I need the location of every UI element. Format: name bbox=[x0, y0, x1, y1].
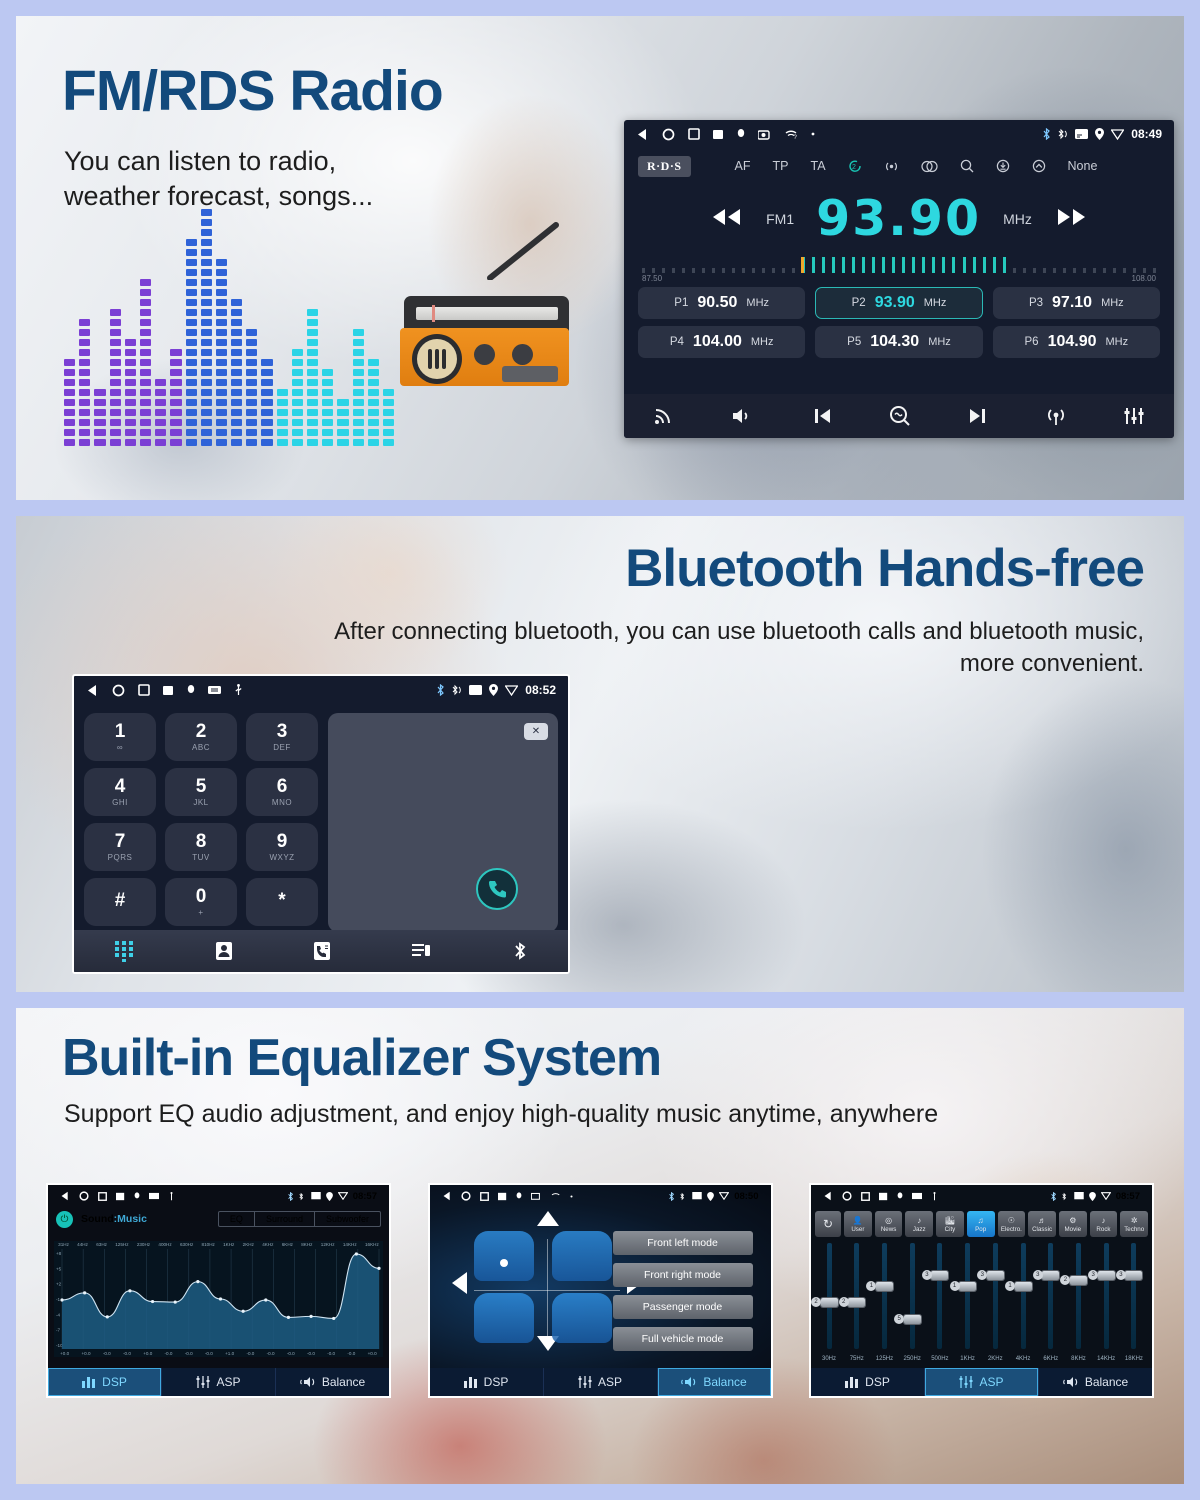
dial-tick bbox=[682, 268, 685, 273]
cast-icon bbox=[311, 1192, 321, 1200]
svg-text:2: 2 bbox=[852, 164, 856, 171]
dial-tick bbox=[1113, 268, 1116, 273]
location-icon bbox=[326, 1192, 333, 1201]
mic-icon[interactable] bbox=[516, 1192, 522, 1201]
gain-tick-label: -0.0 bbox=[287, 1351, 295, 1356]
back-icon[interactable] bbox=[442, 1191, 452, 1201]
eq-bar-column bbox=[125, 339, 136, 446]
bluetooth-icon bbox=[436, 684, 445, 696]
slider-thumb[interactable] bbox=[1098, 1271, 1115, 1280]
stereo-icon[interactable] bbox=[921, 160, 938, 173]
dsp-gain-labels: +0.0+0.0-0.0-0.0+0.0-0.0-0.0-0.0+1.0-0.0… bbox=[54, 1351, 383, 1356]
radio-signal-icon[interactable] bbox=[652, 405, 674, 427]
status-bar: 08:57 bbox=[811, 1185, 1152, 1207]
seek-backward-icon[interactable] bbox=[710, 203, 744, 234]
asp-preset-button[interactable]: ♬Classic bbox=[1028, 1211, 1056, 1237]
dsp-curve-point bbox=[174, 1300, 177, 1303]
dialpad-key[interactable]: * bbox=[246, 878, 318, 926]
dial-tick bbox=[822, 257, 825, 273]
camera-icon[interactable] bbox=[758, 129, 772, 140]
band-frequency-label: 75Hz bbox=[850, 1356, 864, 1362]
dialpad-key[interactable]: 7PQRS bbox=[84, 823, 156, 871]
head-unit-radio-screen: ? 08:49 R·D·S AF TP TA 2 bbox=[624, 120, 1174, 438]
mic-icon[interactable] bbox=[897, 1192, 903, 1201]
frequency-unit: MHz bbox=[1003, 211, 1032, 227]
balance-mode-button[interactable]: Front right mode bbox=[613, 1263, 753, 1287]
dsp-curve-area bbox=[62, 1254, 379, 1349]
slider-value-bubble: 2 bbox=[811, 1297, 821, 1307]
eq-bar-column bbox=[337, 399, 348, 446]
equalizer-settings-icon[interactable] bbox=[1123, 406, 1145, 426]
mic-icon[interactable] bbox=[737, 129, 745, 140]
dot-icon bbox=[570, 1195, 573, 1198]
asp-preset-button[interactable]: ◎News bbox=[875, 1211, 903, 1237]
preset-button[interactable]: P5104.30MHz bbox=[815, 326, 982, 358]
status-time: 08:50 bbox=[734, 1191, 758, 1202]
slider-thumb[interactable] bbox=[1042, 1271, 1059, 1280]
keypad-tab-icon[interactable] bbox=[114, 940, 134, 962]
dsp-curve-point bbox=[309, 1315, 312, 1318]
asp-band-slider[interactable]: 314KHz bbox=[1094, 1243, 1118, 1362]
slider-value-bubble: 3 bbox=[977, 1270, 987, 1280]
call-button[interactable] bbox=[476, 868, 518, 910]
dial-tick bbox=[1013, 268, 1016, 273]
call-log-tab-icon[interactable] bbox=[313, 941, 331, 961]
asp-slider-bank: 230Hz275Hz1125Hz5250Hz3500Hz11KHz32KHz14… bbox=[817, 1243, 1146, 1362]
sound-header: ⏻ Sound:Music EQ Surround Subwoofer bbox=[48, 1207, 389, 1231]
slider-thumb[interactable] bbox=[959, 1282, 976, 1291]
dsp-curve-point bbox=[60, 1298, 63, 1301]
dial-tick bbox=[1133, 268, 1136, 273]
slider-value-bubble: 1 bbox=[1005, 1281, 1015, 1291]
dialpad-key[interactable]: 4GHI bbox=[84, 768, 156, 816]
current-frequency: 93.90 bbox=[816, 190, 981, 247]
page-title-bluetooth: Bluetooth Hands-free bbox=[625, 538, 1144, 599]
gain-tick-label: +1.0 bbox=[225, 1351, 234, 1356]
eq-bar-column bbox=[186, 239, 197, 446]
preset-button[interactable]: P190.50MHz bbox=[638, 287, 805, 319]
asp-band-slider[interactable]: 28KHz bbox=[1066, 1243, 1090, 1362]
dial-tick bbox=[1103, 268, 1106, 273]
home-icon[interactable] bbox=[842, 1191, 852, 1201]
band-frequency-label: 14KHz bbox=[1097, 1356, 1115, 1362]
rds-station-name: None bbox=[1068, 159, 1098, 173]
dialpad-key[interactable]: 5JKL bbox=[165, 768, 237, 816]
sync-contacts-tab-icon[interactable] bbox=[411, 942, 431, 960]
search-icon[interactable] bbox=[960, 159, 974, 173]
recents-icon[interactable] bbox=[688, 128, 700, 140]
dial-tick bbox=[842, 257, 845, 273]
dsp-curve-point bbox=[242, 1310, 245, 1313]
eq-bar-column bbox=[246, 329, 257, 446]
eq-bar-column bbox=[322, 369, 333, 446]
scan-icon[interactable] bbox=[889, 405, 911, 427]
slider-thumb[interactable] bbox=[987, 1271, 1004, 1280]
gain-tick-label: -0.0 bbox=[103, 1351, 111, 1356]
dial-tick bbox=[1143, 268, 1146, 273]
dial-tick bbox=[872, 257, 875, 273]
status-time: 08:49 bbox=[1131, 127, 1162, 141]
rds-refresh-icon[interactable]: 2 bbox=[848, 159, 862, 173]
cast-icon bbox=[469, 685, 482, 696]
sd-card-icon[interactable] bbox=[912, 1192, 922, 1200]
usb-icon[interactable] bbox=[234, 684, 243, 696]
bottom-tab-asp[interactable]: ASP bbox=[162, 1368, 276, 1396]
location-icon bbox=[489, 684, 498, 696]
dial-min-label: 87.50 bbox=[642, 274, 662, 283]
tab-eq[interactable]: EQ bbox=[219, 1212, 254, 1226]
asp-preset-button[interactable]: ♪Jazz bbox=[905, 1211, 933, 1237]
dial-tick bbox=[832, 257, 835, 273]
bottom-tab-dsp[interactable]: DSP bbox=[48, 1368, 162, 1396]
dsp-curve-point bbox=[287, 1316, 290, 1319]
dial-tick bbox=[993, 257, 996, 273]
dsp-curve-point bbox=[264, 1298, 267, 1301]
band-frequency-label: 18KHz bbox=[1125, 1356, 1143, 1362]
gain-tick-label: -0.0 bbox=[205, 1351, 213, 1356]
dial-tick bbox=[952, 257, 955, 273]
dsp-bottom-tabs: DSP ASP Balance bbox=[48, 1368, 389, 1396]
dial-tick bbox=[1023, 268, 1026, 273]
previous-icon[interactable] bbox=[812, 406, 832, 426]
dial-tick bbox=[932, 257, 935, 273]
svg-text:?: ? bbox=[794, 135, 798, 140]
scan-up-icon[interactable] bbox=[1032, 159, 1046, 173]
recents-icon[interactable] bbox=[861, 1192, 870, 1201]
asp-preset-button[interactable]: 👤User bbox=[844, 1211, 872, 1237]
asp-band-slider[interactable]: 36KHz bbox=[1039, 1243, 1063, 1362]
dial-tick bbox=[782, 268, 785, 273]
dial-tick bbox=[963, 257, 966, 273]
dialpad-key[interactable]: 9WXYZ bbox=[246, 823, 318, 871]
preset-button[interactable]: P6104.90MHz bbox=[993, 326, 1160, 358]
slider-thumb[interactable] bbox=[1015, 1282, 1032, 1291]
dialpad: 1∞2ABC3DEF4GHI5JKL6MNO7PQRS8TUV9WXYZ#0+*… bbox=[74, 704, 568, 932]
dsp-eq-curve-chart[interactable]: 31Hz44Hz63Hz125Hz230Hz400Hz630Hz810Hz1KH… bbox=[54, 1241, 383, 1357]
balance-position-dot[interactable] bbox=[500, 1259, 508, 1267]
home-icon[interactable] bbox=[112, 684, 125, 697]
eq-bar-column bbox=[353, 329, 364, 446]
band-frequency-label: 2KHz bbox=[988, 1356, 1003, 1362]
dialpad-key[interactable]: # bbox=[84, 878, 156, 926]
seek-forward-icon[interactable] bbox=[1054, 203, 1088, 234]
eq-bar-column bbox=[383, 389, 394, 446]
dialpad-key[interactable]: 3DEF bbox=[246, 713, 318, 761]
signal-icon bbox=[1111, 129, 1124, 140]
seat-map[interactable] bbox=[472, 1231, 622, 1349]
balance-control[interactable]: Front left modeFront right modePassenger… bbox=[430, 1207, 771, 1368]
bottom-tab-dsp[interactable]: DSP bbox=[811, 1368, 925, 1396]
dial-tick bbox=[692, 268, 695, 273]
asp-band-slider[interactable]: 11KHz bbox=[956, 1243, 980, 1362]
home-icon[interactable] bbox=[79, 1191, 89, 1201]
bluetooth-icon bbox=[1042, 128, 1051, 140]
screenshot-icon[interactable] bbox=[879, 1192, 888, 1201]
bottom-tab-asp[interactable]: ASP bbox=[544, 1368, 658, 1396]
dial-tick bbox=[752, 268, 755, 273]
location-icon bbox=[707, 1192, 714, 1201]
asp-band-slider[interactable]: 3500Hz bbox=[928, 1243, 952, 1362]
dial-tick bbox=[732, 268, 735, 273]
dialpad-key[interactable]: 6MNO bbox=[246, 768, 318, 816]
band-frequency-label: 30Hz bbox=[822, 1356, 836, 1362]
svg-text:+2: +2 bbox=[56, 1282, 62, 1287]
eq-bar-column bbox=[368, 359, 379, 446]
head-unit-asp-screen: 08:57 ↻👤User◎News♪Jazz🏙City♫Pop☉Electro.… bbox=[809, 1183, 1154, 1398]
dial-tick bbox=[902, 257, 905, 273]
phone-bottom-toolbar bbox=[74, 930, 568, 972]
slider-thumb[interactable] bbox=[876, 1282, 893, 1291]
gain-tick-label: -0.0 bbox=[185, 1351, 193, 1356]
eq-bar-column bbox=[201, 209, 212, 446]
balance-mode-button[interactable]: Passenger mode bbox=[613, 1295, 753, 1319]
dial-cursor bbox=[801, 257, 804, 273]
dial-tick bbox=[792, 268, 795, 273]
slider-value-bubble: 2 bbox=[839, 1297, 849, 1307]
band-frequency-label: 125Hz bbox=[876, 1356, 893, 1362]
next-icon[interactable] bbox=[968, 406, 988, 426]
dot-icon bbox=[811, 132, 815, 136]
signal-icon bbox=[1101, 1192, 1111, 1200]
camera-icon[interactable] bbox=[531, 1192, 542, 1200]
eq-bar-column bbox=[170, 349, 181, 446]
wifi-icon[interactable] bbox=[551, 1192, 561, 1200]
dial-tick bbox=[862, 257, 865, 273]
slider-thumb[interactable] bbox=[1070, 1276, 1087, 1285]
head-unit-dialpad-screen: 08:52 1∞2ABC3DEF4GHI5JKL6MNO7PQRS8TUV9WX… bbox=[72, 674, 570, 974]
balance-mode-button[interactable]: Front left mode bbox=[613, 1231, 753, 1255]
back-icon[interactable] bbox=[636, 128, 649, 141]
band-frequency-label: 4KHz bbox=[1016, 1356, 1031, 1362]
bottom-tab-dsp[interactable]: DSP bbox=[430, 1368, 544, 1396]
asp-preset-button[interactable]: 🏙City bbox=[936, 1211, 964, 1237]
radio-subtitle: You can listen to radio,weather forecast… bbox=[64, 144, 373, 213]
gain-tick-label: +0.0 bbox=[81, 1351, 90, 1356]
page-title-equalizer: Built-in Equalizer System bbox=[62, 1028, 661, 1088]
dsp-curve-point bbox=[196, 1280, 199, 1283]
signal-icon bbox=[338, 1192, 348, 1200]
sd-card-icon[interactable] bbox=[149, 1192, 159, 1200]
asp-preset-button[interactable]: ✲Techno bbox=[1120, 1211, 1148, 1237]
rds-badge[interactable]: R·D·S bbox=[638, 156, 691, 177]
svg-text:-1: -1 bbox=[56, 1297, 61, 1302]
signal-icon bbox=[505, 685, 518, 696]
dial-tick bbox=[892, 257, 895, 273]
asp-preset-button[interactable]: ⚙Movie bbox=[1059, 1211, 1087, 1237]
asp-band-slider[interactable]: 32KHz bbox=[983, 1243, 1007, 1362]
asp-band-slider[interactable]: 5250Hz bbox=[900, 1243, 924, 1362]
preset-button[interactable]: P293.90MHz bbox=[815, 287, 982, 319]
dsp-curve-point bbox=[106, 1315, 109, 1318]
frequency-row: FM1 93.90 MHz bbox=[624, 190, 1174, 247]
asp-preset-button[interactable]: ♪Rock bbox=[1090, 1211, 1118, 1237]
dsp-curve-point bbox=[332, 1317, 335, 1320]
status-time: 08:57 bbox=[353, 1191, 377, 1202]
asp-preset-row: ↻👤User◎News♪Jazz🏙City♫Pop☉Electro.♬Class… bbox=[815, 1211, 1148, 1237]
bottom-tab-asp[interactable]: ASP bbox=[925, 1368, 1039, 1396]
dsp-curve-point bbox=[151, 1300, 154, 1303]
dial-tick bbox=[1003, 257, 1006, 273]
status-time: 08:57 bbox=[1116, 1191, 1140, 1202]
tab-surround[interactable]: Surround bbox=[254, 1212, 314, 1226]
slider-thumb[interactable] bbox=[1125, 1271, 1142, 1280]
screenshot-icon[interactable] bbox=[163, 685, 174, 696]
screenshot-icon[interactable] bbox=[116, 1192, 125, 1201]
screenshot-icon[interactable] bbox=[498, 1192, 507, 1201]
gain-tick-label: +0.0 bbox=[368, 1351, 377, 1356]
gain-tick-label: -0.0 bbox=[347, 1351, 355, 1356]
recents-icon[interactable] bbox=[138, 684, 150, 696]
asp-band-slider[interactable]: 14KHz bbox=[1011, 1243, 1035, 1362]
bluetooth-audio-icon bbox=[1058, 128, 1068, 140]
dial-tick bbox=[672, 268, 675, 273]
power-icon[interactable]: ⏻ bbox=[56, 1211, 73, 1228]
bottom-tab-balance[interactable]: Balance bbox=[276, 1368, 389, 1396]
balance-bottom-tabs: DSP ASP Balance bbox=[430, 1368, 771, 1396]
volume-icon[interactable] bbox=[731, 406, 755, 426]
wifi-icon[interactable]: ? bbox=[785, 129, 798, 140]
tab-subwoofer[interactable]: Subwoofer bbox=[314, 1212, 380, 1226]
rds-ta-button[interactable]: TA bbox=[810, 159, 825, 173]
section-bluetooth-handsfree: Bluetooth Hands-free After connecting bl… bbox=[16, 516, 1184, 992]
dial-tick bbox=[922, 257, 925, 273]
gain-tick-label: -0.0 bbox=[307, 1351, 315, 1356]
asp-band-slider[interactable]: 1125Hz bbox=[872, 1243, 896, 1362]
balance-left-arrow bbox=[452, 1271, 468, 1295]
dsp-curve-point bbox=[83, 1291, 86, 1294]
sd-card-icon[interactable] bbox=[208, 685, 221, 695]
number-display-field[interactable]: ✕ bbox=[328, 713, 558, 932]
gain-tick-label: -0.0 bbox=[165, 1351, 173, 1356]
location-icon bbox=[1089, 1192, 1096, 1201]
status-bar: ? 08:49 bbox=[624, 120, 1174, 148]
broadcast-icon[interactable] bbox=[884, 160, 899, 173]
asp-reset-button[interactable]: ↻ bbox=[815, 1211, 841, 1237]
dialpad-key[interactable]: 8TUV bbox=[165, 823, 237, 871]
band-frequency-label: 500Hz bbox=[931, 1356, 948, 1362]
band-frequency-label: 250Hz bbox=[903, 1356, 920, 1362]
svg-text:-7: -7 bbox=[56, 1328, 61, 1333]
backspace-icon[interactable]: ✕ bbox=[524, 723, 548, 740]
asp-band-slider[interactable]: 318KHz bbox=[1122, 1243, 1146, 1362]
slider-value-bubble: 3 bbox=[922, 1270, 932, 1280]
dial-tick bbox=[942, 257, 945, 273]
bottom-tab-balance[interactable]: Balance bbox=[1039, 1368, 1152, 1396]
asp-band-slider[interactable]: 230Hz bbox=[817, 1243, 841, 1362]
dial-tick bbox=[1153, 268, 1156, 273]
status-time: 08:52 bbox=[525, 683, 556, 697]
usb-icon[interactable] bbox=[168, 1192, 175, 1201]
dial-tick bbox=[1033, 268, 1036, 273]
slider-value-bubble: 2 bbox=[1060, 1275, 1070, 1285]
balance-up-arrow bbox=[536, 1211, 560, 1227]
dialpad-key[interactable]: 0+ bbox=[165, 878, 237, 926]
dial-max-label: 108.00 bbox=[1132, 274, 1156, 283]
back-icon[interactable] bbox=[60, 1191, 70, 1201]
dialpad-key[interactable]: 2ABC bbox=[165, 713, 237, 761]
asp-band-slider[interactable]: 275Hz bbox=[845, 1243, 869, 1362]
gain-tick-label: +0.0 bbox=[143, 1351, 152, 1356]
dial-tick bbox=[702, 268, 705, 273]
rds-af-button[interactable]: AF bbox=[735, 159, 751, 173]
eq-bar-column bbox=[231, 299, 242, 446]
eq-bar-column bbox=[216, 259, 227, 446]
eq-bar-column bbox=[261, 359, 272, 446]
dial-tick bbox=[722, 268, 725, 273]
asp-preset-button[interactable]: ♫Pop bbox=[967, 1211, 995, 1237]
dial-tick bbox=[1043, 268, 1046, 273]
usb-icon[interactable] bbox=[931, 1192, 938, 1201]
download-icon[interactable] bbox=[996, 159, 1010, 173]
page-title-radio: FM/RDS Radio bbox=[62, 58, 443, 124]
slider-thumb[interactable] bbox=[904, 1315, 921, 1324]
bluetooth-settings-tab-icon[interactable] bbox=[512, 941, 528, 961]
preset-grid: P190.50MHzP293.90MHzP397.10MHzP4104.00MH… bbox=[638, 287, 1160, 358]
signal-icon bbox=[719, 1192, 729, 1200]
status-bar: 08:57 bbox=[48, 1185, 389, 1207]
eq-bar-column bbox=[307, 309, 318, 446]
balance-mode-list: Front left modeFront right modePassenger… bbox=[613, 1231, 753, 1351]
radio-device-illustration bbox=[394, 274, 574, 394]
gain-tick-label: -0.0 bbox=[327, 1351, 335, 1356]
dial-tick bbox=[1123, 268, 1126, 273]
eq-bar-column bbox=[110, 309, 121, 446]
bluetooth-icon bbox=[668, 1192, 675, 1201]
mic-icon[interactable] bbox=[134, 1192, 140, 1201]
eq-bar-column bbox=[277, 389, 288, 446]
bluetooth-icon bbox=[1050, 1192, 1057, 1201]
dial-tick bbox=[1093, 268, 1096, 273]
asp-preset-button[interactable]: ☉Electro. bbox=[998, 1211, 1026, 1237]
slider-thumb[interactable] bbox=[821, 1298, 838, 1307]
eq-bar-column bbox=[94, 389, 105, 446]
dial-tick bbox=[1073, 268, 1076, 273]
preset-button[interactable]: P397.10MHz bbox=[993, 287, 1160, 319]
dial-tick bbox=[882, 257, 885, 273]
eq-bar-column bbox=[292, 349, 303, 446]
slider-thumb[interactable] bbox=[931, 1271, 948, 1280]
preset-button[interactable]: P4104.00MHz bbox=[638, 326, 805, 358]
dsp-curve-point bbox=[377, 1267, 380, 1270]
screenshot-icon[interactable] bbox=[713, 129, 724, 140]
dialpad-key[interactable]: 1∞ bbox=[84, 713, 156, 761]
bluetooth-icon bbox=[287, 1192, 294, 1201]
cast-icon bbox=[1074, 1192, 1084, 1200]
dial-tick bbox=[742, 268, 745, 273]
mic-icon[interactable] bbox=[187, 685, 195, 696]
slider-value-bubble: 3 bbox=[1088, 1270, 1098, 1280]
back-icon[interactable] bbox=[86, 684, 99, 697]
home-icon[interactable] bbox=[461, 1191, 471, 1201]
back-icon[interactable] bbox=[823, 1191, 833, 1201]
status-bar: 08:52 bbox=[74, 676, 568, 704]
bottom-tab-balance[interactable]: Balance bbox=[658, 1368, 771, 1396]
slider-thumb[interactable] bbox=[848, 1298, 865, 1307]
eq-bar-column bbox=[79, 319, 90, 446]
dialpad-keys: 1∞2ABC3DEF4GHI5JKL6MNO7PQRS8TUV9WXYZ#0+* bbox=[84, 713, 318, 932]
frequency-dial[interactable]: 87.50 108.00 bbox=[642, 257, 1156, 279]
home-icon[interactable] bbox=[662, 128, 675, 141]
recents-icon[interactable] bbox=[480, 1192, 489, 1201]
equalizer-bars-illustration bbox=[64, 231, 394, 446]
bluetooth-subtitle: After connecting bluetooth, you can use … bbox=[334, 616, 1144, 679]
recents-icon[interactable] bbox=[98, 1192, 107, 1201]
eq-bar-column bbox=[155, 379, 166, 446]
antenna-icon[interactable] bbox=[1045, 405, 1067, 427]
balance-mode-button[interactable]: Full vehicle mode bbox=[613, 1327, 753, 1351]
rds-tp-button[interactable]: TP bbox=[773, 159, 789, 173]
contacts-tab-icon[interactable] bbox=[215, 941, 233, 961]
